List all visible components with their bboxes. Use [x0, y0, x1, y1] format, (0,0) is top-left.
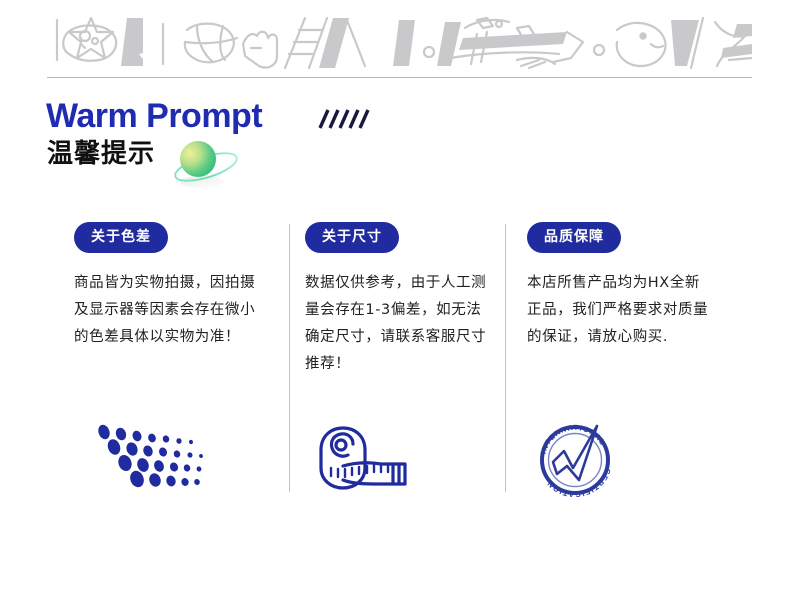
- info-card-color-difference: 关于色差 商品皆为实物拍摄，因拍摄及显示器等因素会存在微小的色差具体以实物为准！: [74, 222, 284, 502]
- info-cards-row: 关于色差 商品皆为实物拍摄，因拍摄及显示器等因素会存在微小的色差具体以实物为准！: [47, 222, 752, 502]
- planet-with-ring-icon: [172, 134, 250, 190]
- card-body-text: 本店所售产品均为HX全新正品，我们严格要求对质量的保证，请放心购买.: [527, 270, 713, 351]
- tape-measure-icon: [309, 422, 413, 498]
- card-badge: 关于色差: [74, 222, 168, 253]
- page-title-english: Warm Prompt: [46, 96, 262, 136]
- decorative-line-art: [47, 14, 752, 74]
- info-card-size: 关于尺寸 数据仅供参考，由于人工测量会存在1-3偏差，如无法确定尺寸，请联系客服…: [305, 222, 515, 502]
- card-badge: 品质保障: [527, 222, 621, 253]
- info-card-quality: 品质保障 本店所售产品均为HX全新正品，我们严格要求对质量的保证，请放心购买. …: [527, 222, 737, 502]
- header-divider-rule: [47, 77, 752, 78]
- card-body-text: 数据仅供参考，由于人工测量会存在1-3偏差，如无法确定尺寸，请联系客服尺寸推荐！: [305, 270, 491, 378]
- slash-decoration-icon: [314, 104, 384, 132]
- decorative-header-band: [47, 14, 752, 74]
- card-badge: 关于尺寸: [305, 222, 399, 253]
- color-swatch-dots-icon: [92, 422, 212, 494]
- card-body-text: 商品皆为实物拍摄，因拍摄及显示器等因素会存在微小的色差具体以实物为准！: [74, 270, 260, 351]
- card-divider-1: [289, 224, 290, 492]
- international-certification-badge-icon: INTERNATIONAL CERTIFICATION: [533, 418, 625, 498]
- page-title-block: Warm Prompt 温馨提示: [46, 96, 466, 188]
- page-title-chinese: 温馨提示: [47, 138, 155, 170]
